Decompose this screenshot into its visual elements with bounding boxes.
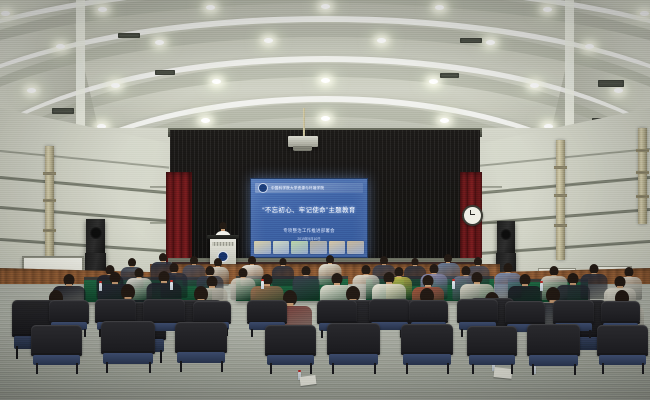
occupied-chair bbox=[31, 325, 82, 373]
thumb-2 bbox=[273, 241, 290, 254]
ceiling-downlight bbox=[206, 5, 215, 10]
chair-backrest bbox=[401, 324, 453, 355]
chair-leg bbox=[16, 346, 18, 359]
water-bottle bbox=[452, 281, 455, 289]
projector-lens bbox=[293, 146, 312, 151]
chair-backrest bbox=[317, 300, 357, 324]
chair-leg bbox=[321, 330, 323, 338]
occupied-chair bbox=[327, 323, 380, 373]
ceiling-downlight bbox=[321, 78, 330, 83]
ceiling-downlight bbox=[435, 5, 444, 10]
chair-seat-cushion bbox=[177, 352, 225, 363]
speaker-left-top bbox=[86, 219, 105, 253]
slide-title: “不忘初心、牢记使命”主题教育 bbox=[251, 205, 367, 216]
ceiling-downlight bbox=[321, 4, 330, 9]
ceiling-vent-far-left bbox=[52, 108, 74, 114]
chair-backrest bbox=[457, 299, 498, 323]
chair-backrest bbox=[601, 301, 640, 323]
chair-leg bbox=[221, 361, 223, 372]
chair-leg bbox=[149, 362, 151, 373]
ceiling-vent-far-right bbox=[598, 80, 624, 87]
thumb-6 bbox=[347, 241, 364, 254]
occupied-chair bbox=[467, 326, 517, 373]
thumb-5 bbox=[329, 241, 346, 254]
chair-leg bbox=[602, 363, 604, 374]
ceiling-downlight bbox=[440, 118, 449, 123]
chair-seat-cushion bbox=[599, 355, 646, 366]
bottle-cap bbox=[261, 279, 264, 281]
chair-leg bbox=[180, 361, 182, 372]
chair-seat-cushion bbox=[329, 354, 378, 365]
wall-pillar-left bbox=[45, 146, 54, 264]
bottle-cap bbox=[170, 280, 173, 282]
chair-leg bbox=[251, 329, 253, 337]
thumb-4 bbox=[310, 241, 327, 254]
university-crest-icon bbox=[258, 183, 268, 193]
ceiling-vent-left bbox=[118, 33, 140, 38]
thumb-1 bbox=[254, 241, 271, 254]
bottle-cap bbox=[452, 279, 455, 281]
ceiling-downlight bbox=[212, 79, 221, 84]
pillar-band bbox=[554, 166, 567, 169]
chair-seat-cushion bbox=[267, 355, 314, 366]
ceiling-downlight bbox=[321, 116, 330, 121]
chair-leg bbox=[472, 364, 474, 374]
chair-backrest bbox=[327, 323, 380, 355]
chair-leg bbox=[461, 329, 463, 337]
projector-mount-pole bbox=[303, 108, 305, 138]
chair-leg bbox=[332, 363, 334, 374]
pillar-band bbox=[43, 229, 56, 232]
chair-leg bbox=[532, 364, 534, 375]
lectern-control-strip bbox=[212, 242, 234, 246]
auditorium-photo: 中国科学院大学资源与环境学院 “不忘初心、牢记使命”主题教育 专项整治工作推进部… bbox=[0, 0, 650, 400]
chair-leg bbox=[310, 363, 312, 374]
chair-backrest bbox=[95, 299, 136, 323]
chair-seat-cushion bbox=[403, 354, 451, 365]
chair-backrest bbox=[369, 299, 410, 323]
chair-leg bbox=[406, 363, 408, 374]
chair-backrest bbox=[527, 324, 580, 356]
chair-leg bbox=[106, 362, 108, 373]
ceiling-vent-mid-right bbox=[440, 73, 459, 78]
ceiling-downlight bbox=[111, 83, 120, 88]
slide-header-text: 中国科学院大学资源与环境学院 bbox=[271, 186, 324, 191]
pillar-band bbox=[554, 194, 567, 197]
bottle-cap bbox=[99, 281, 102, 283]
occupied-chair bbox=[101, 321, 155, 372]
slide-subtitle: 专项整治工作推进部署会 bbox=[251, 228, 367, 234]
chair-leg bbox=[447, 363, 449, 374]
pillar-band bbox=[43, 199, 56, 202]
ceiling-downlight bbox=[1, 11, 10, 16]
chair-leg bbox=[511, 364, 513, 374]
chair-leg bbox=[84, 329, 86, 337]
chair-backrest bbox=[505, 301, 545, 325]
chair-backrest bbox=[409, 300, 448, 322]
paper-on-floor bbox=[300, 375, 317, 386]
lectern-top bbox=[207, 235, 239, 239]
speaker-cone bbox=[501, 229, 512, 240]
pillar-band bbox=[636, 171, 649, 174]
water-bottle bbox=[261, 281, 264, 289]
chair-leg bbox=[76, 363, 78, 374]
pillar-band bbox=[636, 195, 649, 198]
chair-seat-cushion bbox=[33, 355, 80, 366]
thumb-3 bbox=[291, 241, 308, 254]
chair-leg bbox=[589, 330, 591, 338]
chair-backrest bbox=[193, 301, 231, 323]
ceiling-downlight bbox=[56, 44, 65, 49]
chair-leg bbox=[36, 363, 38, 374]
occupied-chair bbox=[401, 324, 453, 373]
pillar-band bbox=[43, 172, 56, 175]
chair-backrest bbox=[265, 325, 316, 356]
chair-backrest bbox=[247, 300, 287, 323]
occupied-chair bbox=[265, 325, 316, 373]
wall-pillar-right bbox=[556, 140, 565, 260]
water-bottle bbox=[540, 283, 543, 291]
chair-backrest bbox=[467, 326, 517, 356]
occupied-chair bbox=[527, 324, 580, 374]
pillar-band bbox=[554, 224, 567, 227]
ceiling-downlight bbox=[201, 118, 210, 123]
chair-backrest bbox=[175, 322, 227, 353]
water-bottle bbox=[170, 282, 173, 290]
chair-seat-cushion bbox=[469, 355, 515, 365]
ceiling-vent-right bbox=[460, 38, 482, 43]
chair-backrest bbox=[143, 299, 185, 323]
slide-thumbnail-strip bbox=[254, 241, 364, 254]
chair-backrest bbox=[101, 321, 155, 354]
ceiling-vent-mid-left bbox=[155, 70, 175, 75]
bottle-cap bbox=[540, 281, 543, 283]
pillar-band bbox=[636, 149, 649, 152]
water-bottle bbox=[99, 283, 102, 291]
chair-seat-cushion bbox=[103, 353, 153, 364]
slide-header-bar: 中国科学院大学资源与环境学院 bbox=[255, 183, 363, 193]
speaker-cone bbox=[90, 227, 102, 239]
occupied-chair bbox=[175, 322, 227, 371]
chair-backrest bbox=[553, 300, 594, 324]
chair-leg bbox=[642, 363, 644, 374]
projection-screen: 中国科学院大学资源与环境学院 “不忘初心、牢记使命”主题教育 专项整治工作推进部… bbox=[250, 178, 368, 258]
wall-pillar-far-right bbox=[638, 128, 647, 224]
occupied-chair bbox=[597, 325, 648, 373]
chair-seat-cushion bbox=[529, 355, 578, 366]
ceiling-downlight bbox=[530, 83, 539, 88]
chair-leg bbox=[374, 363, 376, 374]
chair-leg bbox=[270, 363, 272, 374]
chair-backrest bbox=[597, 325, 648, 356]
chair-backrest bbox=[49, 300, 89, 323]
chair-leg bbox=[574, 364, 576, 375]
ceiling-downlight bbox=[585, 44, 594, 49]
speaker-right-top bbox=[497, 221, 515, 253]
chair-leg bbox=[160, 350, 162, 363]
wall-clock bbox=[462, 205, 483, 226]
chair-backrest bbox=[31, 325, 82, 356]
